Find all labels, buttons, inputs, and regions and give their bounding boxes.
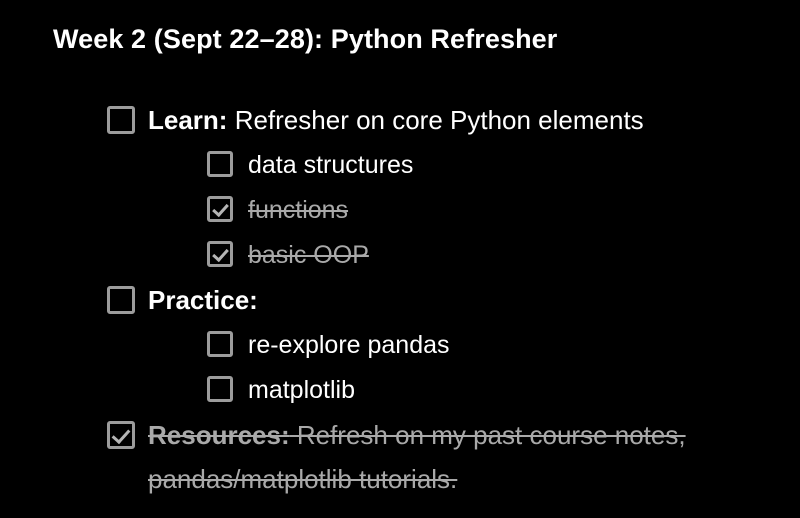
checklist-item-label: matplotlib (248, 368, 355, 412)
checklist-item[interactable]: Learn: Refresher on core Python elements (0, 98, 800, 143)
checklist-item-label: Practice: (148, 278, 258, 322)
checkbox-unchecked-icon[interactable] (107, 106, 135, 134)
checklist-item-lead: Practice: (148, 285, 258, 315)
checklist-item-lead: Learn: (148, 105, 227, 135)
checklist-item-lead: Resources: (148, 420, 290, 450)
checklist-item[interactable]: Practice: (0, 278, 800, 323)
checkbox-checked-icon[interactable] (207, 196, 233, 222)
checklist-item[interactable]: basic OOP (0, 233, 800, 278)
checklist-item-label: functions (248, 188, 348, 232)
page-title: Week 2 (Sept 22–28): Python Refresher (53, 24, 557, 55)
checkbox-unchecked-icon[interactable] (207, 151, 233, 177)
slide-canvas: Week 2 (Sept 22–28): Python Refresher Le… (0, 0, 800, 518)
checklist-item-label: re-explore pandas (248, 323, 450, 367)
checklist-item-text: basic OOP (248, 241, 369, 269)
checklist-item-label: Resources: Refresh on my past course not… (148, 413, 708, 501)
checklist-item-text: re-explore pandas (248, 331, 450, 359)
checklist-item[interactable]: matplotlib (0, 368, 800, 413)
checklist-item[interactable]: data structures (0, 143, 800, 188)
checklist-item[interactable]: Resources: Refresh on my past course not… (0, 413, 800, 501)
checklist-item-label: Learn: Refresher on core Python elements (148, 98, 644, 142)
checklist-item[interactable]: functions (0, 188, 800, 233)
checkbox-unchecked-icon[interactable] (207, 376, 233, 402)
checklist-item-text: matplotlib (248, 376, 355, 404)
checkbox-unchecked-icon[interactable] (107, 286, 135, 314)
checklist-item[interactable]: re-explore pandas (0, 323, 800, 368)
checklist-item-text: functions (248, 196, 348, 224)
checkbox-unchecked-icon[interactable] (207, 331, 233, 357)
checklist-item-text: Refresher on core Python elements (227, 105, 643, 135)
checkbox-checked-icon[interactable] (107, 421, 135, 449)
checklist-item-text: data structures (248, 151, 413, 179)
checkbox-checked-icon[interactable] (207, 241, 233, 267)
checklist-item-label: data structures (248, 143, 413, 187)
checklist: Learn: Refresher on core Python elements… (0, 98, 800, 501)
checklist-item-label: basic OOP (248, 233, 369, 277)
